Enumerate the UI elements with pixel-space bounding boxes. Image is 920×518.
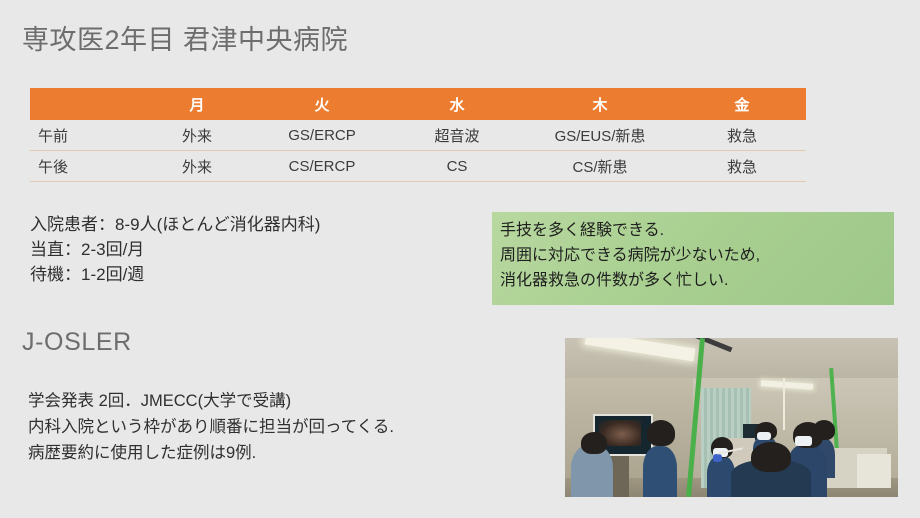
col-header-thu: 木 <box>522 88 678 120</box>
table-row: 午前 外来 GS/ERCP 超音波 GS/EUS/新患 救急 <box>30 120 806 151</box>
table-row: 午後 外来 CS/ERCP CS CS/新患 救急 <box>30 151 806 182</box>
weekly-schedule-table: 月 火 水 木 金 午前 外来 GS/ERCP 超音波 GS/EUS/新患 救急… <box>30 88 806 182</box>
cell-wed-pm: CS <box>392 151 522 182</box>
josler-line-presentations: 学会発表 2回．JMECC(大学で受講) <box>28 388 394 414</box>
photo-person-5-mask <box>757 432 771 440</box>
cell-fri-am: 救急 <box>678 120 806 151</box>
callout-line-3: 消化器救急の件数が多く忙しい. <box>500 268 894 293</box>
photo-person-2-head <box>647 420 675 446</box>
photo-hanging-cord <box>783 378 785 430</box>
josler-details-block: 学会発表 2回．JMECC(大学で受講) 内科入院という枠があり順番に担当が回っ… <box>28 388 394 466</box>
cell-mon-am: 外来 <box>142 120 252 151</box>
cell-thu-pm: CS/新患 <box>522 151 678 182</box>
callout-box: 手技を多く経験できる. 周囲に対応できる病院が少ないため, 消化器救急の件数が多… <box>492 212 894 305</box>
table-header-row: 月 火 水 木 金 <box>30 88 806 120</box>
col-header-blank <box>30 88 142 120</box>
photo-blue-glove <box>713 454 722 462</box>
photo-person-6-mask <box>795 436 812 446</box>
photo-equipment-right-2 <box>857 454 891 488</box>
cell-thu-am: GS/EUS/新患 <box>522 120 678 151</box>
detail-line-night-duty: 当直：2-3回/月 <box>30 237 320 262</box>
col-header-tue: 火 <box>252 88 392 120</box>
endoscopy-room-photo <box>565 338 898 497</box>
cell-mon-pm: 外来 <box>142 151 252 182</box>
row-label-morning: 午前 <box>30 120 142 151</box>
row-label-afternoon: 午後 <box>30 151 142 182</box>
details-block: 入院患者：8-9人(ほとんど消化器内科) 当直：2-3回/月 待機：1-2回/週 <box>30 212 320 287</box>
section-title-josler: J-OSLER <box>22 328 132 357</box>
callout-line-2: 周囲に対応できる病院が少ないため, <box>500 243 894 268</box>
cell-tue-am: GS/ERCP <box>252 120 392 151</box>
photo-person-2 <box>643 446 677 497</box>
photo-person-1-head <box>581 432 607 454</box>
detail-line-standby: 待機：1-2回/週 <box>30 262 320 287</box>
photo-person-4-head <box>751 442 791 472</box>
cell-wed-am: 超音波 <box>392 120 522 151</box>
col-header-fri: 金 <box>678 88 806 120</box>
col-header-mon: 月 <box>142 88 252 120</box>
cell-tue-pm: CS/ERCP <box>252 151 392 182</box>
col-header-wed: 水 <box>392 88 522 120</box>
cell-fri-pm: 救急 <box>678 151 806 182</box>
slide-root: 専攻医2年目 君津中央病院 月 火 水 木 金 午前 外来 GS/ERCP 超音… <box>0 0 920 518</box>
josler-line-case-summaries: 病歴要約に使用した症例は9例. <box>28 440 394 466</box>
callout-line-1: 手技を多く経験できる. <box>500 218 894 243</box>
detail-line-inpatients: 入院患者：8-9人(ほとんど消化器内科) <box>30 212 320 237</box>
josler-line-rotation: 内科入院という枠があり順番に担当が回ってくる. <box>28 414 394 440</box>
page-title: 専攻医2年目 君津中央病院 <box>22 18 348 57</box>
